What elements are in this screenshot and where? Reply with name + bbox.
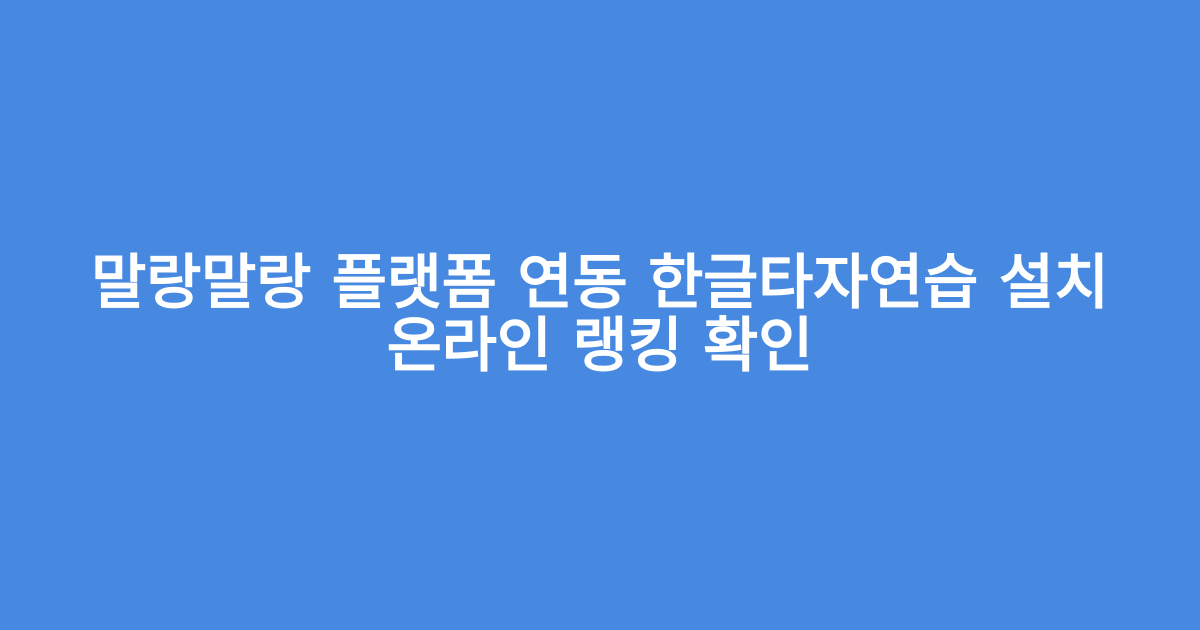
og-card-content: 말랑말랑 플랫폼 연동 한글타자연습 설치 온라인 랭킹 확인 (80, 252, 1120, 378)
og-card: 말랑말랑 플랫폼 연동 한글타자연습 설치 온라인 랭킹 확인 (0, 0, 1200, 630)
page-title: 말랑말랑 플랫폼 연동 한글타자연습 설치 온라인 랭킹 확인 (80, 252, 1120, 378)
